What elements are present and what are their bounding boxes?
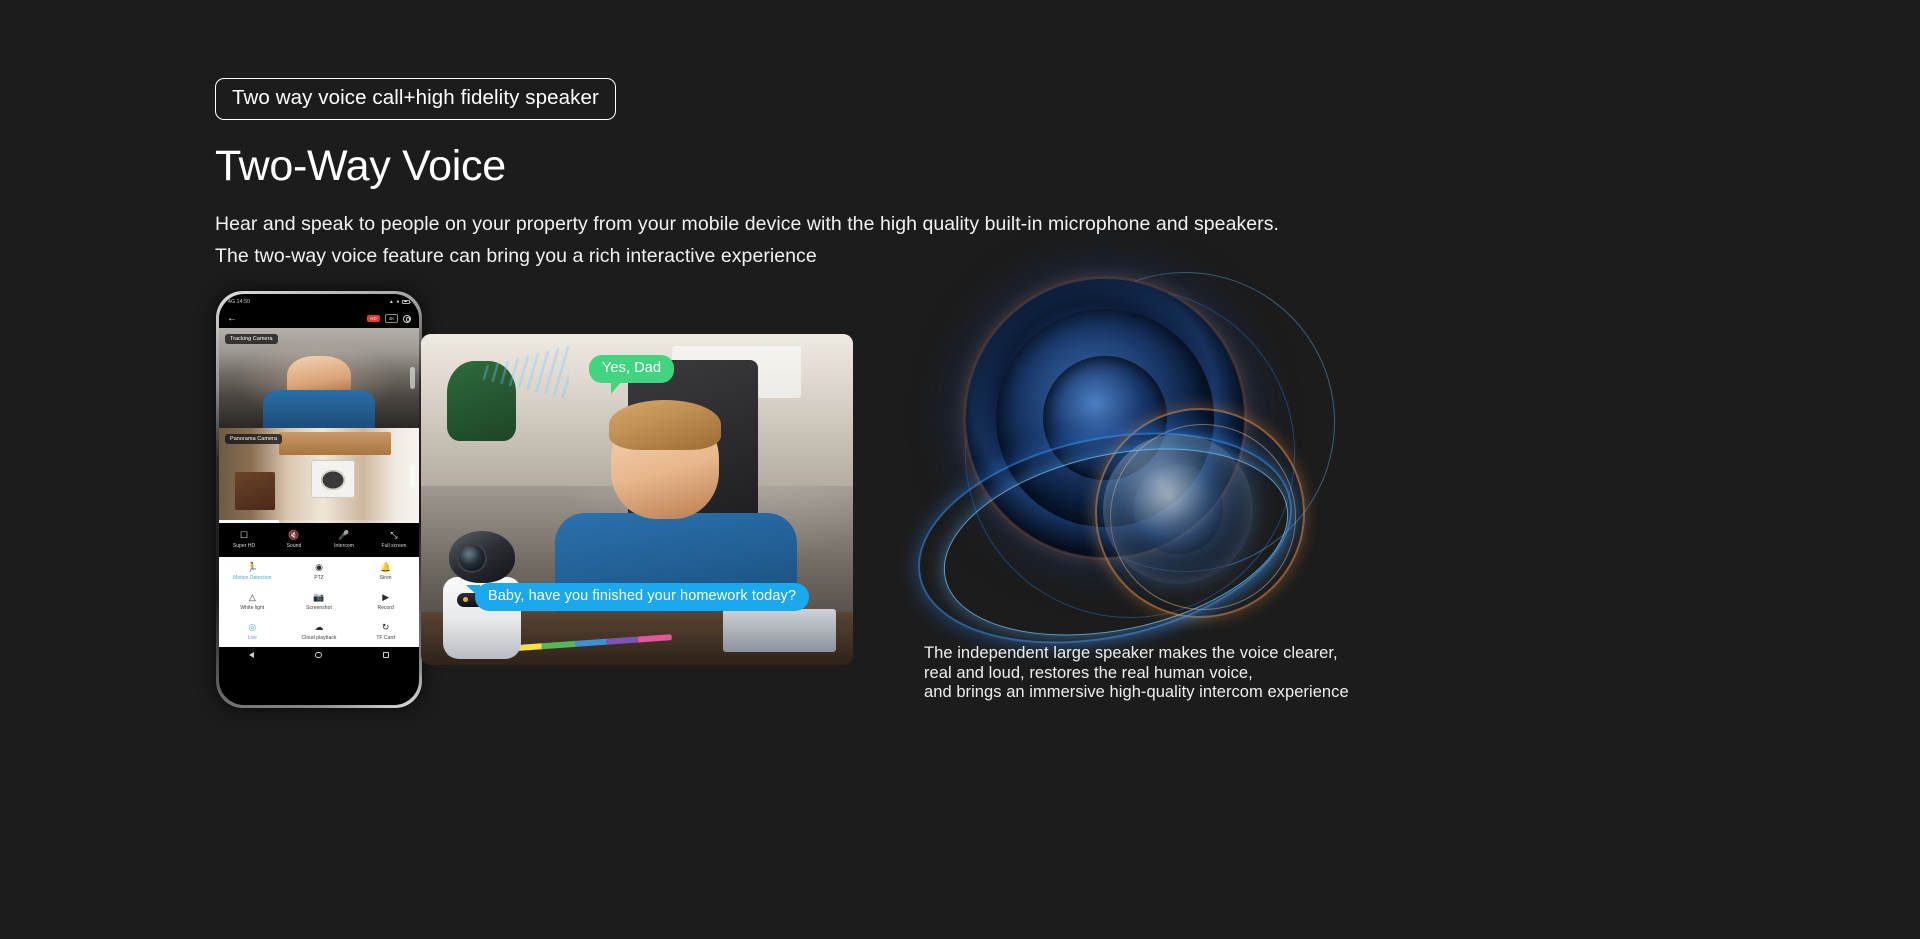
- view-drag-handle[interactable]: [410, 465, 415, 487]
- feature-motion-detection[interactable]: 🏃 Motion Detection: [219, 557, 286, 587]
- android-nav-bar: [219, 647, 419, 663]
- phone-status-bar: 4G 14:50 ▲ ●: [219, 294, 419, 309]
- page-title: Two-Way Voice: [215, 142, 506, 191]
- nav-recents-icon[interactable]: [383, 652, 389, 658]
- lamp-icon: △: [249, 593, 256, 602]
- signal-icon: ●: [396, 299, 399, 305]
- speech-bubble-child: Yes, Dad: [589, 355, 674, 383]
- camera-control-row: ☐ Super HD 🔇 Sound 🎤 Intercom ⤡ Full scr…: [219, 523, 419, 557]
- control-label: Sound: [287, 543, 302, 549]
- feature-label: Motion Detection: [233, 575, 271, 581]
- feature-label: Record: [377, 605, 393, 611]
- feature-cloud-playback[interactable]: ☁ Cloud playback: [286, 617, 353, 647]
- app-top-bar: ← HD 4K: [219, 309, 419, 328]
- camera-view-panorama[interactable]: Panorama Camera: [219, 428, 419, 523]
- product-feature-page: Two way voice call+high fidelity speaker…: [0, 0, 1920, 939]
- control-label: Super HD: [233, 543, 255, 549]
- camera-icon: 📷: [313, 593, 324, 602]
- status-badge-hd: HD: [367, 315, 379, 322]
- camera-label-tracking: Tracking Camera: [225, 334, 278, 344]
- description-line-1: Hear and speak to people on your propert…: [215, 208, 1279, 240]
- microphone-icon: 🎤: [338, 531, 349, 540]
- view-drag-handle[interactable]: [410, 367, 415, 389]
- phone-mockup: 4G 14:50 ▲ ● ← HD 4K Tracking Camera: [216, 291, 422, 708]
- feature-label: PTZ: [314, 575, 324, 581]
- speaker-render: [905, 258, 1375, 658]
- status-indicators: ▲ ●: [389, 299, 410, 305]
- scene-photo: Yes, Dad Baby, have you finished your ho…: [421, 334, 853, 665]
- live-icon: ◎: [248, 623, 256, 632]
- speaker-mute-icon: 🔇: [288, 531, 299, 540]
- feature-label: Live: [248, 635, 257, 641]
- control-label: Full screen: [381, 543, 406, 549]
- feature-tf-card[interactable]: ↻ TF Card: [352, 617, 419, 647]
- running-person-icon: 🏃: [247, 563, 258, 572]
- control-label: Intercom: [334, 543, 354, 549]
- app-top-bar-right: HD 4K: [367, 314, 411, 323]
- feature-label: TF Card: [376, 635, 395, 641]
- record-icon: ▶: [382, 593, 389, 602]
- feature-badge: Two way voice call+high fidelity speaker: [215, 78, 616, 120]
- control-sound[interactable]: 🔇 Sound: [269, 531, 319, 549]
- status-badge-quality[interactable]: 4K: [385, 314, 398, 323]
- ptz-camera-icon: ◉: [315, 563, 323, 572]
- feature-label: Screenshot: [306, 605, 332, 611]
- phone-screen: 4G 14:50 ▲ ● ← HD 4K Tracking Camera: [219, 294, 419, 705]
- scene-cabinet: [235, 472, 275, 510]
- scene-cabinet-top: [279, 432, 391, 455]
- photo-boy-hair: [609, 400, 721, 450]
- photo-laptop: [723, 609, 835, 652]
- feature-ptz[interactable]: ◉ PTZ: [286, 557, 353, 587]
- feature-record[interactable]: ▶ Record: [352, 587, 419, 617]
- playback-scrubber[interactable]: [219, 520, 419, 523]
- feature-label: Siren: [380, 575, 392, 581]
- camera-view-tracking[interactable]: Tracking Camera: [219, 328, 419, 428]
- speaker-caption-line-2: real and loud, restores the real human v…: [924, 664, 1349, 684]
- hd-icon: ☐: [240, 531, 248, 540]
- back-arrow-icon[interactable]: ←: [227, 314, 237, 324]
- battery-icon: [402, 300, 410, 304]
- control-full-screen[interactable]: ⤡ Full screen: [369, 531, 419, 549]
- control-intercom[interactable]: 🎤 Intercom: [319, 531, 369, 549]
- control-super-hd[interactable]: ☐ Super HD: [219, 531, 269, 549]
- siren-icon: 🔔: [380, 563, 391, 572]
- feature-label: White light: [240, 605, 264, 611]
- speech-bubble-parent: Baby, have you finished your homework to…: [475, 583, 809, 611]
- nav-back-icon[interactable]: [249, 652, 254, 658]
- speaker-caption: The independent large speaker makes the …: [924, 644, 1349, 703]
- cloud-icon: ☁: [314, 623, 323, 632]
- feature-screenshot[interactable]: 📷 Screenshot: [286, 587, 353, 617]
- feature-live[interactable]: ◎ Live: [219, 617, 286, 647]
- status-network-time: 4G 14:50: [228, 299, 250, 305]
- feature-grid: 🏃 Motion Detection ◉ PTZ 🔔 Siren △ White…: [219, 557, 419, 647]
- feature-siren[interactable]: 🔔 Siren: [352, 557, 419, 587]
- camera-label-panorama: Panorama Camera: [225, 434, 282, 444]
- feature-label: Cloud playback: [302, 635, 337, 641]
- sdcard-icon: ↻: [382, 623, 390, 632]
- gear-icon[interactable]: [403, 315, 411, 323]
- wifi-icon: ▲: [389, 299, 394, 305]
- feature-white-light[interactable]: △ White light: [219, 587, 286, 617]
- speaker-caption-line-1: The independent large speaker makes the …: [924, 644, 1349, 664]
- nav-home-icon[interactable]: [315, 652, 322, 659]
- fullscreen-icon: ⤡: [390, 531, 397, 540]
- camera-lens-icon: [459, 545, 485, 571]
- speaker-caption-line-3: and brings an immersive high-quality int…: [924, 683, 1349, 703]
